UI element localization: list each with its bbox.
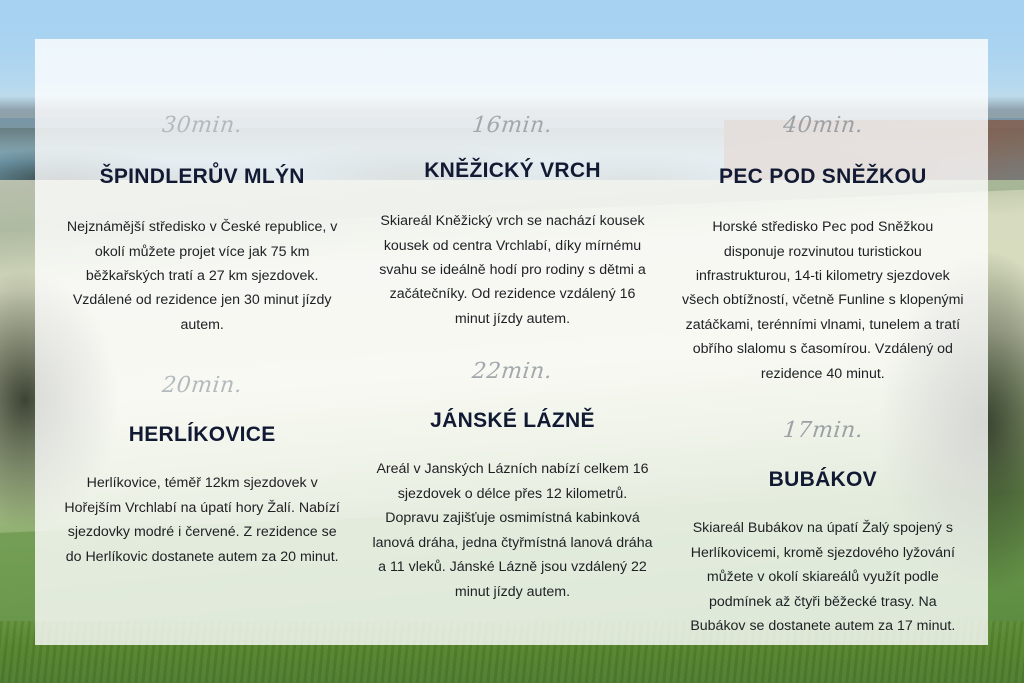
travel-duration: 30min. <box>60 115 345 137</box>
resort-description: Areál v Janských Lázních nabízí celkem 1… <box>371 457 653 604</box>
travel-duration: 17min. <box>681 420 966 442</box>
travel-duration: 40min. <box>681 115 966 137</box>
travel-duration: 22min. <box>370 361 655 383</box>
resort-title: BUBÁKOV <box>682 468 964 492</box>
resort-description: Herlíkovice, téměř 12km sjezdovek v Hoře… <box>61 471 343 569</box>
travel-duration: 20min. <box>60 375 345 397</box>
resort-card-bubakov: 17min. BUBÁKOV Skiareál Bubákov na úpatí… <box>682 420 964 638</box>
resort-description: Skiareál Bubákov na úpatí Žalý spojený s… <box>682 516 964 638</box>
resort-column-2: 16min. KNĚŽICKÝ VRCH Skiareál Kněžický v… <box>357 53 667 604</box>
resort-description: Skiareál Kněžický vrch se nachází kousek… <box>371 209 653 331</box>
resort-description: Nejznámější středisko v České republice,… <box>61 215 343 337</box>
resort-columns: 30min. ŠPINDLERŮV MLÝN Nejznámější střed… <box>53 53 970 635</box>
resort-card-janske-lazne: 22min. JÁNSKÉ LÁZNĚ Areál v Janských Láz… <box>371 361 653 604</box>
resort-title: HERLÍKOVICE <box>61 423 343 447</box>
content-panel: 30min. ŠPINDLERŮV MLÝN Nejznámější střed… <box>35 39 988 645</box>
resort-card-knezicky-vrch: 16min. KNĚŽICKÝ VRCH Skiareál Kněžický v… <box>371 115 653 331</box>
resort-column-3: 40min. PEC POD SNĚŽKOU Horské středisko … <box>668 53 970 638</box>
resort-column-1: 30min. ŠPINDLERŮV MLÝN Nejznámější střed… <box>53 53 357 569</box>
resort-title: JÁNSKÉ LÁZNĚ <box>371 409 653 433</box>
resort-card-herlikovice: 20min. HERLÍKOVICE Herlíkovice, téměř 12… <box>61 375 343 569</box>
travel-duration: 16min. <box>370 115 655 137</box>
resort-title: ŠPINDLERŮV MLÝN <box>61 165 343 189</box>
resort-card-pec-pod-snezkou: 40min. PEC POD SNĚŽKOU Horské středisko … <box>682 115 964 386</box>
resort-title: KNĚŽICKÝ VRCH <box>371 159 653 183</box>
resort-card-spindleruv-mlyn: 30min. ŠPINDLERŮV MLÝN Nejznámější střed… <box>61 115 343 337</box>
resort-title: PEC POD SNĚŽKOU <box>682 165 964 189</box>
resort-description: Horské středisko Pec pod Sněžkou disponu… <box>682 215 964 386</box>
